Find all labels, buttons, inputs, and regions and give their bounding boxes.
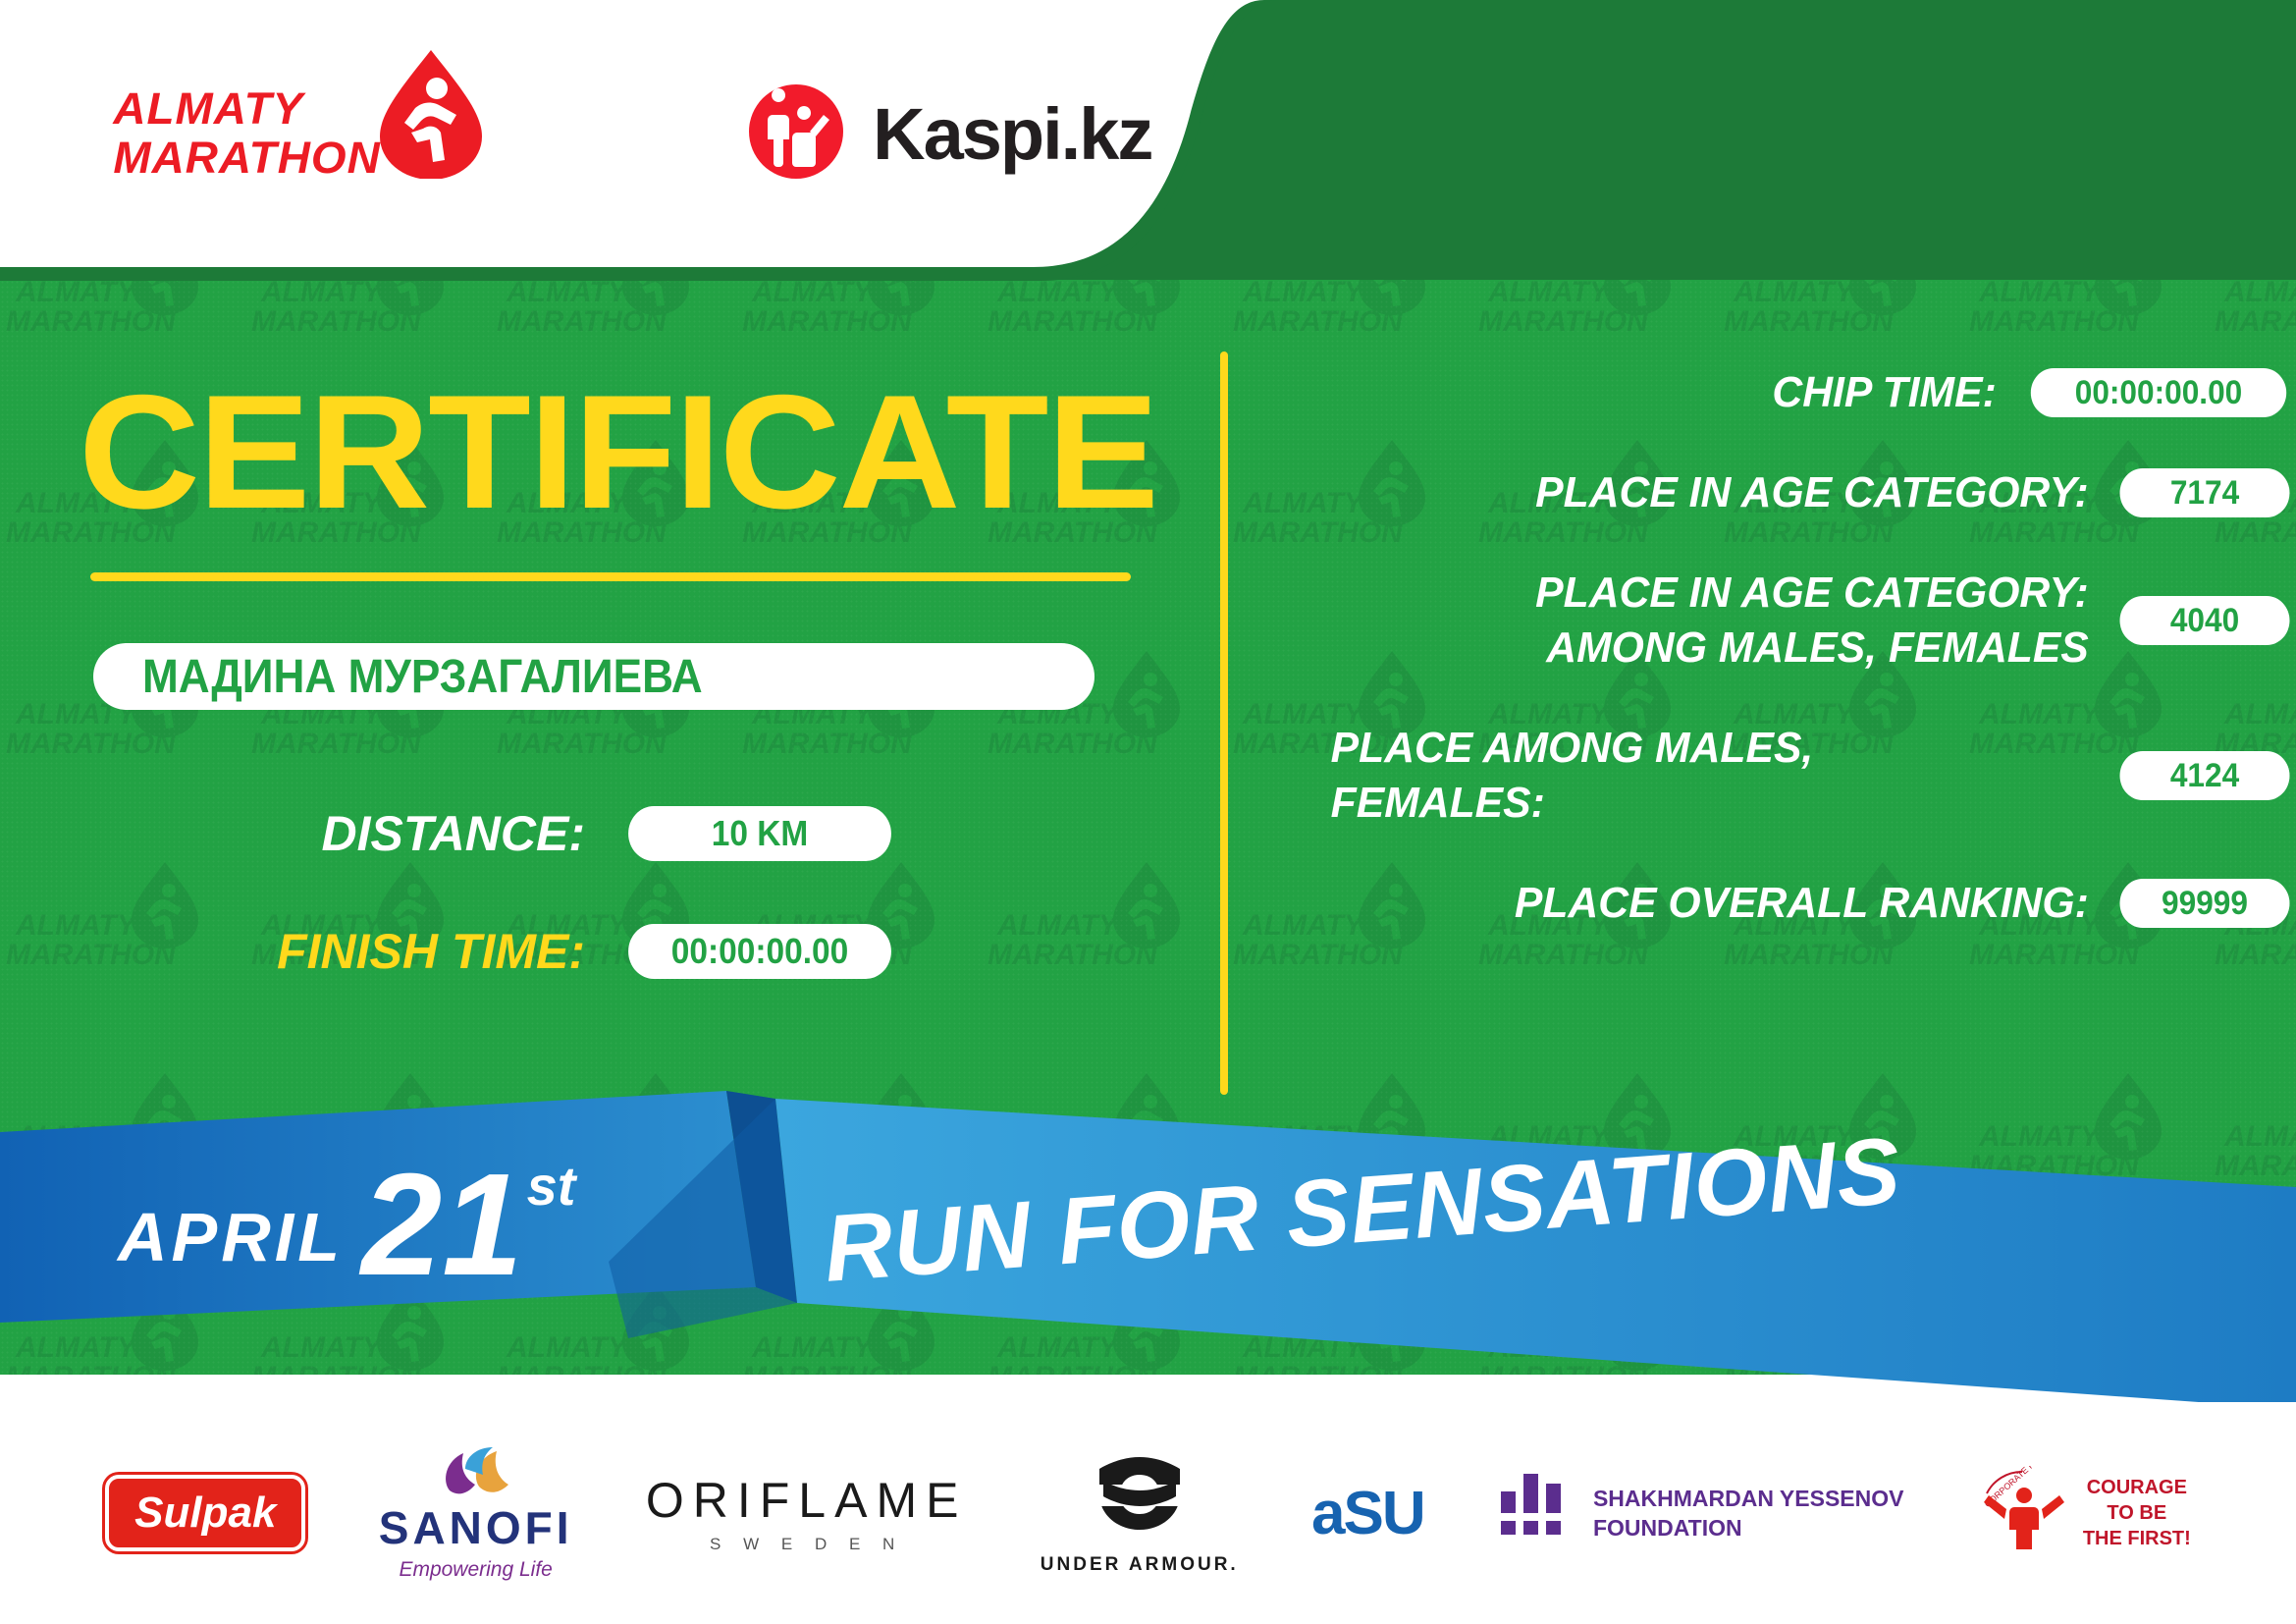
courage-fund-wordmark: COURAGE TO BE THE FIRST! bbox=[2083, 1475, 2191, 1551]
sponsor-asu: aSU bbox=[1311, 1479, 1424, 1548]
courage-fund-logo: CORPORATE FUND COURAGE TO BE THE FIRST! bbox=[1977, 1466, 2191, 1561]
almaty-marathon-wordmark: ALMATY MARATHON bbox=[113, 84, 380, 183]
event-day-ordinal: st bbox=[527, 1154, 576, 1218]
certificate-canvas: ALMATY MARATHON bbox=[0, 0, 2296, 1624]
place-age-category-gender-row: PLACE IN AGE CATEGORY: AMONG MALES, FEMA… bbox=[1252, 566, 2296, 676]
courage-fund-person-icon: CORPORATE FUND bbox=[1977, 1466, 2067, 1561]
asu-logo: aSU bbox=[1311, 1479, 1424, 1548]
yessenov-foundation-logo: SHAKHMARDAN YESSENOV FOUNDATION bbox=[1497, 1470, 1904, 1557]
sponsor-strip: Sulpak SANOFI Empowering Life ORIFLAME S… bbox=[0, 1402, 2296, 1624]
distance-label: DISTANCE: bbox=[0, 805, 618, 862]
vertical-divider bbox=[1220, 352, 1228, 1095]
asu-wordmark: aSU bbox=[1311, 1480, 1424, 1547]
sanofi-logo: SANOFI Empowering Life bbox=[379, 1445, 573, 1582]
sanofi-mark-icon bbox=[432, 1484, 520, 1500]
left-detail-rows: DISTANCE: 10 KM FINISH TIME: 00:00:00.00 bbox=[0, 795, 1217, 1031]
sponsor-under-armour: UNDER ARMOUR. bbox=[1041, 1451, 1239, 1576]
kaspi-wordmark: Kaspi.kz bbox=[873, 92, 1151, 176]
sponsor-oriflame: ORIFLAME S W E D E N bbox=[646, 1472, 968, 1554]
foundation-line-1: SHAKHMARDAN YESSENOV bbox=[1593, 1484, 1904, 1513]
courage-line-2: TO BE bbox=[2083, 1500, 2191, 1526]
sponsor-sulpak: Sulpak bbox=[105, 1475, 305, 1551]
header-logos: ALMATY MARATHON bbox=[0, 0, 1276, 267]
courage-line-3: THE FIRST! bbox=[2083, 1526, 2191, 1551]
almaty-marathon-logo: ALMATY MARATHON bbox=[116, 83, 490, 184]
place-among-gender-label: PLACE AMONG MALES, FEMALES: bbox=[1277, 721, 2113, 831]
label-line-1: PLACE IN AGE CATEGORY: bbox=[1277, 566, 2088, 621]
label-line-1: PLACE AMONG MALES, bbox=[1331, 721, 2097, 776]
sponsor-sanofi: SANOFI Empowering Life bbox=[379, 1445, 573, 1582]
chip-time-value: 00:00:00.00 bbox=[2031, 368, 2286, 417]
page-title: CERTIFICATE bbox=[79, 371, 1157, 533]
stats-column: CHIP TIME: 00:00:00.00 PLACE IN AGE CATE… bbox=[1252, 365, 2296, 976]
sulpak-logo: Sulpak bbox=[105, 1475, 305, 1551]
marathon-word: MARATHON bbox=[113, 134, 380, 183]
sponsor-yessenov-foundation: SHAKHMARDAN YESSENOV FOUNDATION bbox=[1497, 1470, 1904, 1557]
place-among-gender-row: PLACE AMONG MALES, FEMALES: 4124 bbox=[1252, 721, 2296, 831]
place-age-category-label: PLACE IN AGE CATEGORY: bbox=[1277, 465, 2113, 520]
place-age-category-gender-value: 4040 bbox=[2120, 596, 2290, 645]
place-overall-ranking-value: 99999 bbox=[2120, 879, 2290, 928]
place-age-category-row: PLACE IN AGE CATEGORY: 7174 bbox=[1252, 465, 2296, 520]
label-line-2: FEMALES: bbox=[1331, 776, 2097, 831]
participant-name-value: МАДИНА МУРЗАГАЛИЕВА bbox=[142, 650, 703, 704]
distance-row: DISTANCE: 10 KM bbox=[0, 795, 1217, 872]
event-day: 21 bbox=[361, 1160, 523, 1290]
title-underline bbox=[90, 572, 1131, 581]
almaty-word: ALMATY bbox=[113, 84, 380, 134]
finish-time-row: FINISH TIME: 00:00:00.00 bbox=[0, 913, 1217, 990]
place-age-category-value: 7174 bbox=[2120, 468, 2290, 517]
sanofi-tagline: Empowering Life bbox=[379, 1558, 573, 1582]
kaspi-logo: Kaspi.kz bbox=[747, 82, 1151, 186]
chip-time-label: CHIP TIME: bbox=[1275, 365, 2021, 420]
under-armour-mark-icon bbox=[1066, 1529, 1213, 1545]
place-age-category-gender-label: PLACE IN AGE CATEGORY: AMONG MALES, FEMA… bbox=[1277, 566, 2113, 676]
kaspi-people-circle-icon bbox=[747, 82, 845, 186]
oriflame-wordmark: ORIFLAME bbox=[646, 1472, 968, 1529]
oriflame-tagline: S W E D E N bbox=[646, 1535, 968, 1554]
yessenov-bars-icon bbox=[1497, 1470, 1572, 1557]
yessenov-foundation-wordmark: SHAKHMARDAN YESSENOV FOUNDATION bbox=[1593, 1484, 1904, 1543]
sanofi-wordmark: SANOFI bbox=[379, 1501, 573, 1554]
place-among-gender-value: 4124 bbox=[2120, 751, 2290, 800]
under-armour-wordmark: UNDER ARMOUR. bbox=[1041, 1554, 1239, 1576]
place-overall-ranking-label: PLACE OVERALL RANKING: bbox=[1277, 876, 2113, 931]
almaty-marathon-runner-drop-icon bbox=[372, 46, 490, 184]
oriflame-logo: ORIFLAME S W E D E N bbox=[646, 1472, 968, 1554]
courage-line-1: COURAGE bbox=[2083, 1475, 2191, 1500]
under-armour-logo: UNDER ARMOUR. bbox=[1041, 1451, 1239, 1576]
place-overall-ranking-row: PLACE OVERALL RANKING: 99999 bbox=[1252, 876, 2296, 931]
foundation-line-2: FOUNDATION bbox=[1593, 1513, 1904, 1543]
finish-time-value: 00:00:00.00 bbox=[628, 924, 891, 979]
chip-time-row: CHIP TIME: 00:00:00.00 bbox=[1252, 365, 2296, 420]
sponsor-courage-fund: CORPORATE FUND COURAGE TO BE THE FIRST! bbox=[1977, 1466, 2191, 1561]
finish-time-label: FINISH TIME: bbox=[0, 923, 618, 980]
distance-value: 10 KM bbox=[628, 806, 891, 861]
event-month: APRIL bbox=[118, 1198, 344, 1276]
label-line-2: AMONG MALES, FEMALES bbox=[1277, 621, 2088, 676]
event-date: APRIL 21 st bbox=[118, 1154, 575, 1290]
participant-name-field: МАДИНА МУРЗАГАЛИЕВА bbox=[93, 643, 1095, 710]
